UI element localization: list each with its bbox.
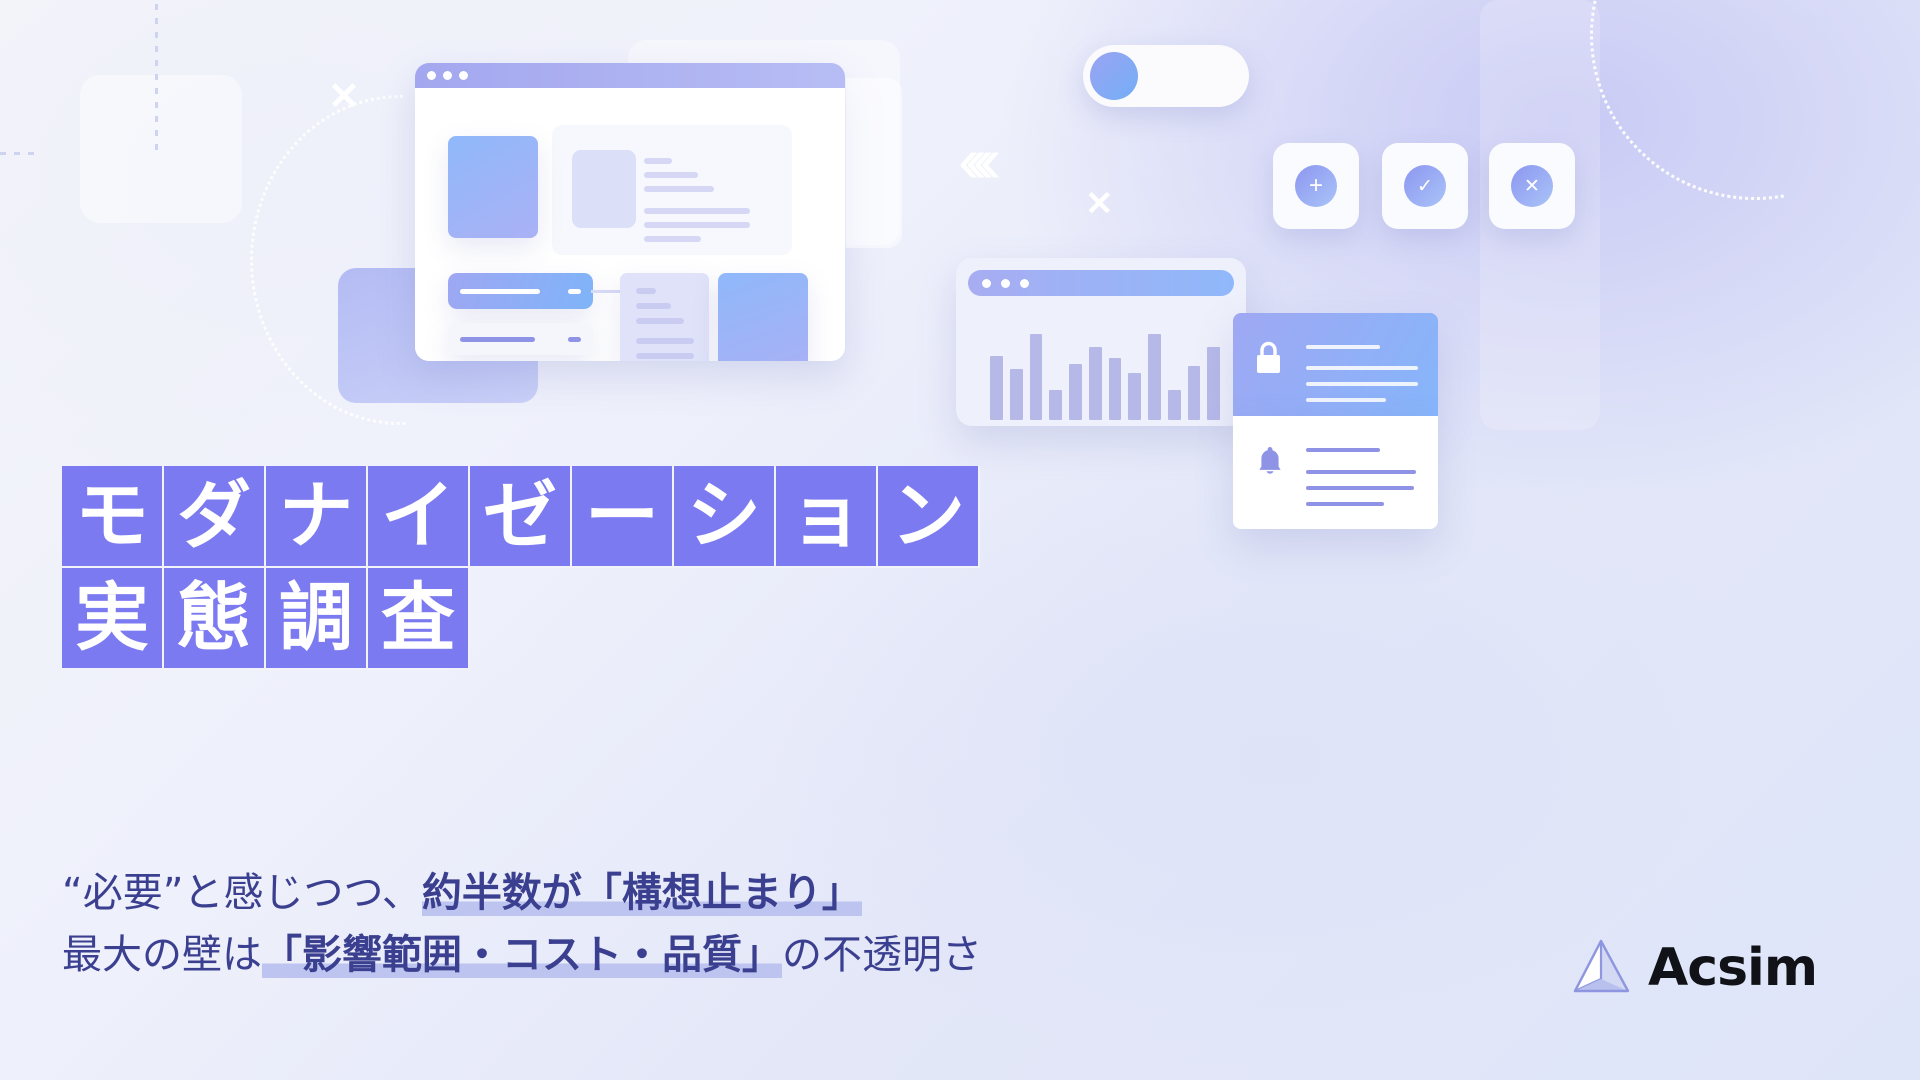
lock-line — [1306, 345, 1380, 349]
page-title: モダナイゼーション実態調査 — [62, 466, 980, 670]
bell-line — [1306, 470, 1416, 474]
page-title-char: ン — [878, 466, 980, 568]
icon-button-plus[interactable]: + — [1273, 143, 1359, 229]
browser-titlebar — [415, 63, 845, 88]
plus-icon: + — [1295, 165, 1337, 207]
text-line — [644, 158, 672, 164]
lock-line — [1306, 398, 1386, 402]
chart-window-dot-1 — [982, 279, 991, 288]
subtitle-line-2-plain-suffix: の不透明さ — [782, 932, 982, 978]
doc-line — [636, 338, 694, 344]
row-card-idle-label — [460, 337, 535, 342]
bg-block-left — [80, 75, 242, 223]
bell-card-lines — [1306, 448, 1416, 506]
row-card-active[interactable] — [448, 273, 593, 309]
page-title-char: ナ — [266, 466, 368, 568]
page-title-line-2: 実態調査 — [62, 568, 980, 670]
bell-card — [1233, 416, 1438, 529]
text-line — [644, 236, 701, 242]
page-title-char: 査 — [368, 568, 470, 670]
subtitle-line-2-plain-prefix: 最大の壁は — [62, 932, 262, 978]
page-title-char: 調 — [266, 568, 368, 670]
page-title-char: ゼ — [470, 466, 572, 568]
subtitle-line-2: 最大の壁は「影響範囲・コスト・品質」の不透明さ — [62, 924, 982, 986]
chart-window-dot-3 — [1020, 279, 1029, 288]
subtitle-line-2-emphasis: 「影響範囲・コスト・品質」 — [262, 932, 782, 978]
chevrons-left-icon: ‹‹‹‹ — [958, 128, 987, 192]
chart-bar — [1089, 347, 1102, 420]
page-title-char: イ — [368, 466, 470, 568]
chart-window-dot-2 — [1001, 279, 1010, 288]
lock-line — [1306, 382, 1418, 386]
chart-bar — [1148, 334, 1161, 420]
toggle-knob[interactable] — [1090, 52, 1138, 100]
chart-bar — [1049, 390, 1062, 420]
logo-text: Acsim — [1648, 938, 1817, 998]
page-title-char: シ — [674, 466, 776, 568]
subtitle-line-1: “必要”と感じつつ、約半数が「構想止まり」 — [62, 862, 982, 924]
document-card — [620, 273, 709, 361]
window-dot-2 — [443, 71, 452, 80]
chart-bar — [1207, 347, 1220, 420]
text-lines-block — [644, 158, 754, 242]
x-decoration-icon-1: ✕ — [328, 78, 360, 116]
row-card-idle-value — [568, 337, 581, 342]
connector-line — [591, 290, 621, 293]
page-title-char: ダ — [164, 466, 266, 568]
page-title-char: 態 — [164, 568, 266, 670]
row-card-active-label — [460, 289, 540, 294]
x-decoration-icon-2: ✕ — [1085, 187, 1114, 221]
text-line — [644, 186, 714, 192]
dotted-vertical-line — [155, 0, 158, 155]
close-icon: ✕ — [1511, 165, 1553, 207]
icon-button-check[interactable]: ✓ — [1382, 143, 1468, 229]
bar-chart — [990, 310, 1220, 420]
chart-bar — [990, 356, 1003, 420]
text-line — [644, 222, 750, 228]
window-dot-3 — [459, 71, 468, 80]
window-dot-1 — [427, 71, 436, 80]
page-title-char: ー — [572, 466, 674, 568]
doc-line — [636, 288, 656, 294]
image-placeholder-right — [718, 273, 808, 361]
page-title-char: 実 — [62, 568, 164, 670]
lock-card — [1233, 313, 1438, 416]
bell-line — [1306, 486, 1414, 490]
page-title-char: モ — [62, 466, 164, 568]
subtitle-block: “必要”と感じつつ、約半数が「構想止まり」 最大の壁は「影響範囲・コスト・品質」… — [62, 862, 982, 986]
chart-bar — [1109, 358, 1122, 420]
image-placeholder-large — [448, 136, 538, 238]
image-placeholder-small — [572, 150, 636, 228]
chart-bar — [1069, 364, 1082, 420]
brand-logo: Acsim — [1570, 938, 1817, 998]
subtitle-line-1-plain: “必要”と感じつつ、 — [62, 870, 422, 916]
text-line — [644, 172, 698, 178]
chart-bar — [1128, 373, 1141, 420]
bell-line — [1306, 448, 1380, 452]
check-icon: ✓ — [1404, 165, 1446, 207]
toggle-switch[interactable] — [1083, 45, 1249, 107]
row-card-active-value — [568, 289, 581, 294]
page-title-char: ョ — [776, 466, 878, 568]
icon-button-close[interactable]: ✕ — [1489, 143, 1575, 229]
doc-line — [636, 303, 671, 309]
browser-window-main — [415, 63, 845, 361]
row-card-idle[interactable] — [448, 323, 593, 355]
browser-window-main-backdrop — [846, 78, 902, 248]
bell-line — [1306, 502, 1384, 506]
chart-bar — [1010, 369, 1023, 420]
chart-bar — [1188, 366, 1201, 420]
text-line — [644, 208, 750, 214]
lock-line — [1306, 366, 1418, 370]
lock-icon — [1254, 340, 1283, 374]
chart-bar — [1168, 390, 1181, 420]
doc-line — [636, 353, 694, 359]
logo-mark-icon — [1570, 939, 1632, 997]
doc-line — [636, 318, 684, 324]
lock-card-lines — [1306, 345, 1418, 402]
dotted-arc-right — [1590, 0, 1920, 200]
chart-bar — [1030, 334, 1043, 420]
chart-window-titlebar — [968, 270, 1234, 296]
browser-content — [415, 88, 845, 361]
chart-window — [956, 258, 1246, 426]
dotted-horizontal-line — [0, 152, 36, 155]
subtitle-line-1-emphasis: 約半数が「構想止まり」 — [422, 870, 862, 916]
page-title-line-1: モダナイゼーション — [62, 466, 980, 568]
bell-icon — [1254, 444, 1286, 480]
